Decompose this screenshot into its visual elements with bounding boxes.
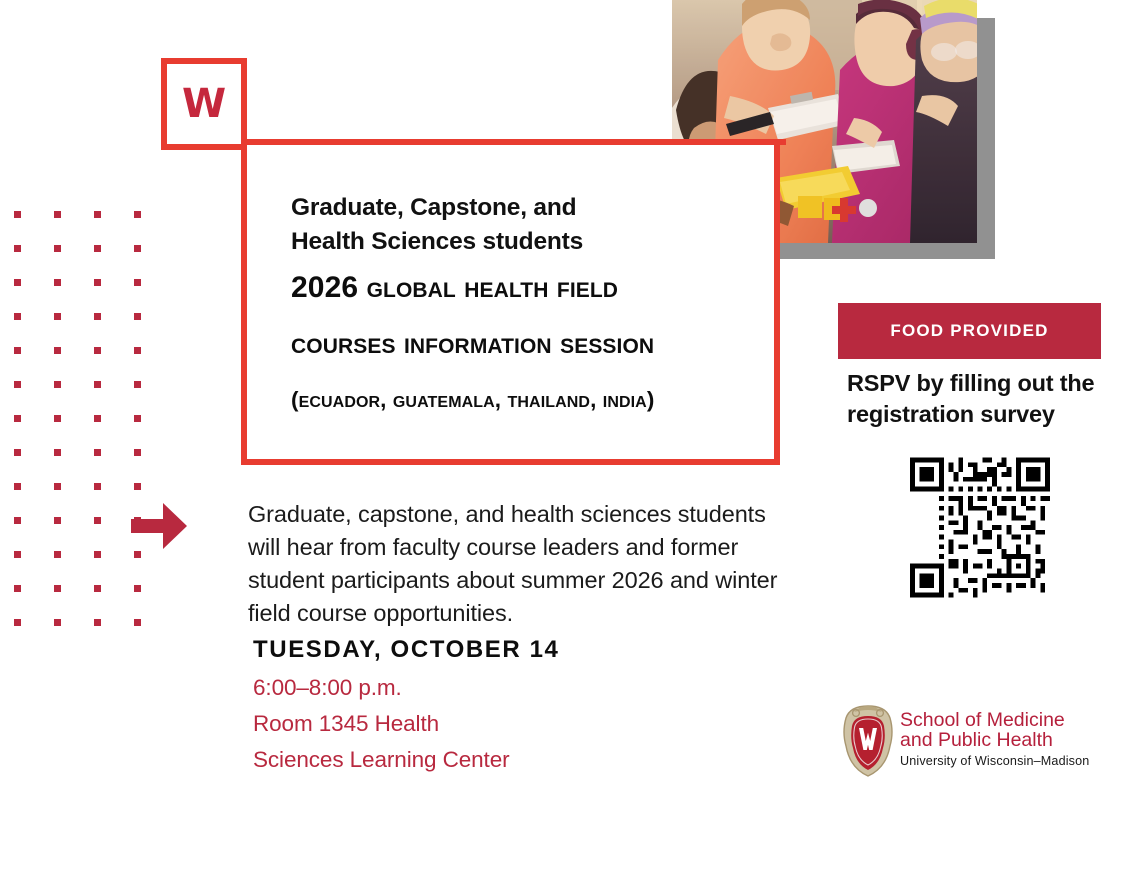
grid-dot [94,449,101,456]
grid-dot [54,313,61,320]
grid-dot [134,381,141,388]
poster-canvas: W Graduate, Capstone, and Health Science… [0,0,1134,872]
event-date: Tuesday, October 14 [253,636,703,664]
headline-card-content: Graduate, Capstone, and Health Sciences … [291,191,754,428]
grid-dot [94,245,101,252]
grid-dot [54,381,61,388]
grid-dot [14,313,21,320]
grid-dot [14,211,21,218]
grid-dot [134,449,141,456]
grid-dot [134,619,141,626]
grid-dot [94,619,101,626]
event-details: Tuesday, October 14 6:00–8:00 p.m. Room … [253,636,703,778]
grid-dot [54,279,61,286]
grid-dot [134,415,141,422]
grid-dot [94,517,101,524]
page-title-line1: 2026 Global Health Field [291,260,754,316]
grid-dot [54,619,61,626]
grid-dot [14,279,21,286]
grid-dot [134,585,141,592]
grid-dot [14,551,21,558]
grid-dot [94,313,101,320]
page-title-line2: Courses Information Session [291,316,754,372]
event-location-line2: Sciences Learning Center [253,742,703,778]
grid-dot [134,211,141,218]
event-location-line1: Room 1345 Health [253,706,703,742]
grid-dot [94,279,101,286]
grid-dot [14,415,21,422]
grid-dot [14,381,21,388]
grid-dot [94,211,101,218]
grid-dot [134,245,141,252]
uw-logo-line3: University of Wisconsin–Madison [900,754,1089,768]
description-paragraph: Graduate, capstone, and health sciences … [248,498,788,630]
grid-dot [54,415,61,422]
grid-dot [54,585,61,592]
grid-dot [54,517,61,524]
food-provided-label: Food Provided [890,321,1048,341]
grid-dot [134,483,141,490]
grid-dot [94,381,101,388]
grid-dot [54,483,61,490]
audience-eyebrow-line1: Graduate, Capstone, and [291,194,576,221]
dot-grid-decoration [14,211,144,635]
grid-dot [94,415,101,422]
brand-rule-horizontal [241,139,786,145]
uw-w-logo-glyph: W [167,64,241,144]
grid-dot [14,245,21,252]
grid-dot [14,449,21,456]
grid-dot [54,551,61,558]
grid-dot [54,211,61,218]
grid-dot [14,517,21,524]
grid-dot [134,279,141,286]
grid-dot [14,483,21,490]
rsvp-instructions: RSPV by filling out the registration sur… [847,368,1117,430]
rsvp-line1: RSPV by filling out the [847,370,1094,396]
event-time: 6:00–8:00 p.m. [253,670,703,706]
uw-logo-line1: School of Medicine [900,709,1065,731]
grid-dot [134,313,141,320]
headline-card: Graduate, Capstone, and Health Sciences … [241,139,780,465]
audience-eyebrow: Graduate, Capstone, and Health Sciences … [291,191,754,260]
uw-crest-icon [844,706,892,776]
grid-dot [94,483,101,490]
page-title-countries: (Ecuador, Guatemala, Thailand, India) [291,372,754,427]
grid-dot [14,585,21,592]
uw-w-logo-box: W [161,58,247,150]
grid-dot [54,347,61,354]
grid-dot [134,347,141,354]
grid-dot [54,449,61,456]
right-arrow-icon [131,500,187,552]
rsvp-line2: registration survey [847,401,1055,427]
grid-dot [94,585,101,592]
registration-survey-qr-code[interactable] [910,455,1050,600]
uw-logo-line2: and Public Health [900,729,1053,751]
audience-eyebrow-line2: Health Sciences students [291,228,583,255]
grid-dot [14,347,21,354]
food-provided-banner: Food Provided [838,303,1101,359]
grid-dot [94,551,101,558]
grid-dot [134,551,141,558]
grid-dot [54,245,61,252]
brand-rule-vertical [241,139,247,465]
uw-smph-logo: School of Medicine and Public Health Uni… [838,702,1110,778]
grid-dot [14,619,21,626]
grid-dot [94,347,101,354]
page-title: 2026 Global Health Field Courses Informa… [291,260,754,428]
